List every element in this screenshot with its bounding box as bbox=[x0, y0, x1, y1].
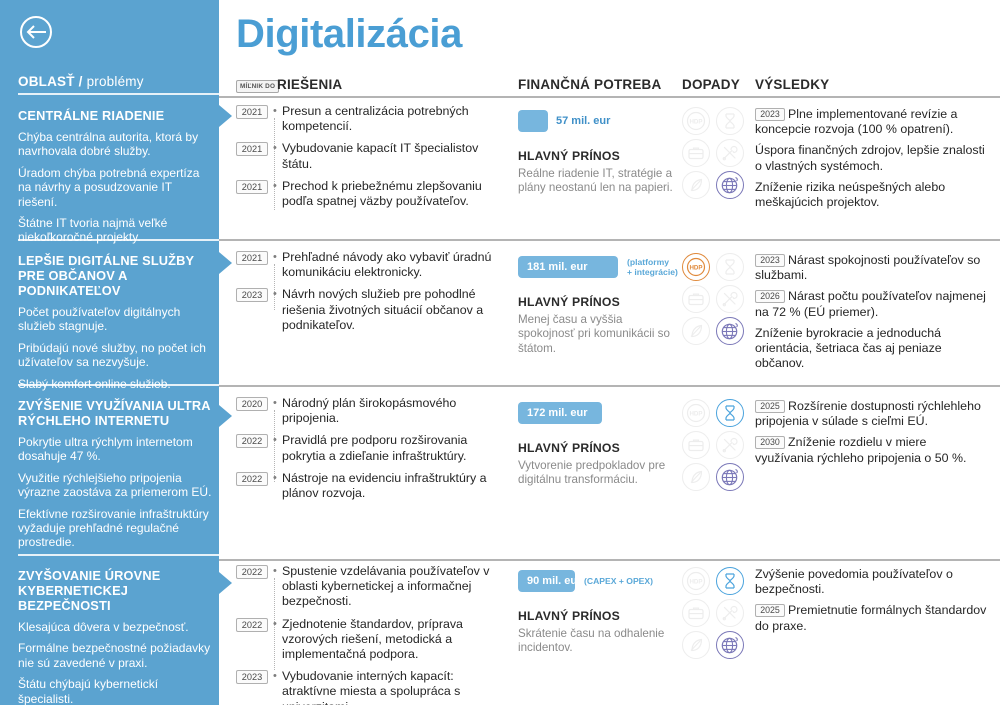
bullet-icon: • bbox=[273, 564, 282, 610]
result-text: Nárast počtu používateľov najmenej na 72… bbox=[755, 289, 986, 318]
solution-text: Prechod k priebežnému zlepšovaniu podľa … bbox=[282, 179, 504, 209]
globe-icon bbox=[716, 631, 744, 659]
solution-item[interactable]: 2022•Spustenie vzdelávania používateľov … bbox=[236, 564, 504, 610]
area-problem: Formálne bezpečnostné požiadavky nie sú … bbox=[18, 641, 214, 670]
funding-note: (CAPEX + OPEX) bbox=[584, 576, 653, 586]
results-block: Zvýšenie povedomia používateľov o bezpeč… bbox=[755, 567, 987, 640]
result-text: Rozšírenie dostupnosti rýchlehleho pripo… bbox=[755, 399, 981, 428]
solution-item[interactable]: 2021•Vybudovanie kapacít IT špecialistov… bbox=[236, 141, 504, 171]
result-item: 2030Zníženie rozdielu v miere využívania… bbox=[755, 435, 987, 465]
benefit-label: HLAVNÝ PRÍNOS bbox=[518, 609, 678, 623]
area-problem: Pokrytie ultra rýchlym internetom dosahu… bbox=[18, 435, 214, 464]
result-item: 2025Premietnutie formálnych štandardov d… bbox=[755, 603, 987, 633]
result-item: 2026Nárast počtu používateľov najmenej n… bbox=[755, 289, 987, 319]
solution-text: Prehľadné návody ako vybaviť úradnú komu… bbox=[282, 250, 504, 280]
milestone-year-chip: 2022 bbox=[236, 434, 268, 448]
result-text: Zvýšenie povedomia používateľov o bezpeč… bbox=[755, 567, 953, 596]
result-item: Zvýšenie povedomia používateľov o bezpeč… bbox=[755, 567, 987, 597]
row-divider bbox=[219, 559, 1000, 561]
result-year-chip: 2026 bbox=[755, 290, 785, 303]
result-text: Nárast spokojnosti používateľov so služb… bbox=[755, 253, 980, 282]
solution-item[interactable]: 2021•Prechod k priebežnému zlepšovaniu p… bbox=[236, 179, 504, 209]
solution-text: Národný plán širokopásmového pripojenia. bbox=[282, 396, 504, 426]
leaf-icon bbox=[682, 171, 710, 199]
svg-text:HDP: HDP bbox=[689, 410, 702, 417]
briefcase-icon bbox=[682, 139, 710, 167]
tools-icon bbox=[716, 599, 744, 627]
solution-text: Spustenie vzdelávania používateľov v obl… bbox=[282, 564, 504, 610]
solution-text: Vybudovanie interných kapacít: atraktívn… bbox=[282, 669, 504, 705]
finance-block: 181 mil. eur(platformy+ integrácie)HLAVN… bbox=[518, 256, 678, 356]
benefit-text: Vytvorenie predpokladov pre digitálnu tr… bbox=[518, 459, 678, 488]
result-text: Premietnutie formálnych štandardov do pr… bbox=[755, 603, 986, 632]
solution-text: Návrh nových služieb pre pohodlné riešen… bbox=[282, 287, 504, 333]
bullet-icon: • bbox=[273, 250, 282, 280]
milestone-year-chip: 2021 bbox=[236, 142, 268, 156]
col-header-impacts: DOPADY bbox=[682, 77, 740, 92]
area-problem: Štátu chýbajú kybernetickí špecialisti. bbox=[18, 677, 214, 705]
result-text: Plne implementované revízie a koncepcie … bbox=[755, 107, 957, 136]
money-row: 90 mil. eur(CAPEX + OPEX) bbox=[518, 570, 678, 592]
funding-amount-label: 57 mil. eur bbox=[556, 115, 610, 127]
finance-block: 57 mil. eurHLAVNÝ PRÍNOSReálne riadenie … bbox=[518, 110, 678, 196]
result-year-chip: 2025 bbox=[755, 604, 785, 617]
area-problem: Využitie rýchlejšieho pripojenia výrazne… bbox=[18, 471, 214, 500]
bullet-icon: • bbox=[273, 396, 282, 426]
impacts-grid: HDP bbox=[682, 253, 746, 347]
area-column-header-strong: OBLASŤ bbox=[18, 74, 75, 89]
impacts-grid: HDP bbox=[682, 567, 746, 661]
bullet-icon: • bbox=[273, 287, 282, 333]
hourglass-icon bbox=[716, 253, 744, 281]
row-pointer-arrow bbox=[219, 252, 232, 274]
result-item: 2025Rozšírenie dostupnosti rýchlehleho p… bbox=[755, 399, 987, 429]
milestone-year-chip: 2022 bbox=[236, 565, 268, 579]
hourglass-icon bbox=[716, 567, 744, 595]
row-pointer-arrow bbox=[219, 405, 232, 427]
hourglass-icon bbox=[716, 107, 744, 135]
results-block: 2025Rozšírenie dostupnosti rýchlehleho p… bbox=[755, 399, 987, 472]
area-problem: Počet používateľov digitálnych služieb s… bbox=[18, 305, 214, 334]
milestone-year-chip: 2021 bbox=[236, 105, 268, 119]
result-year-chip: 2023 bbox=[755, 254, 785, 267]
funding-bar: 90 mil. eur bbox=[518, 570, 575, 592]
solution-text: Pravidlá pre podporu rozširovania pokryt… bbox=[282, 433, 504, 463]
solution-item[interactable]: 2020•Národný plán širokopásmového pripoj… bbox=[236, 396, 504, 426]
row-divider-left bbox=[18, 239, 219, 241]
milestone-year-chip: 2021 bbox=[236, 180, 268, 194]
benefit-label: HLAVNÝ PRÍNOS bbox=[518, 441, 678, 455]
tools-icon bbox=[716, 139, 744, 167]
area-title: ZVÝŠENIE VYUŽÍVANIA ULTRA RÝCHLEHO INTER… bbox=[18, 398, 214, 428]
svg-text:HDP: HDP bbox=[689, 118, 702, 125]
funding-bar: 181 mil. eur bbox=[518, 256, 618, 278]
solutions-list: 2021•Prehľadné návody ako vybaviť úradnú… bbox=[236, 250, 504, 340]
infographic-page: OBLASŤ / problémy Digitalizácia MÍĽNIK D… bbox=[0, 0, 1000, 705]
result-year-chip: 2025 bbox=[755, 400, 785, 413]
solution-item[interactable]: 2023•Návrh nových služieb pre pohodlné r… bbox=[236, 287, 504, 333]
milestone-year-chip: 2021 bbox=[236, 251, 268, 265]
milestone-year-chip: 2023 bbox=[236, 288, 268, 302]
result-item: Zníženie rizika neúspešných alebo meškaj… bbox=[755, 180, 987, 210]
solution-text: Zjednotenie štandardov, príprava vzorový… bbox=[282, 617, 504, 663]
hdp-icon: HDP bbox=[682, 567, 710, 595]
money-row: 181 mil. eur(platformy+ integrácie) bbox=[518, 256, 678, 278]
globe-icon bbox=[716, 171, 744, 199]
impacts-grid: HDP bbox=[682, 399, 746, 493]
result-year-chip: 2030 bbox=[755, 436, 785, 449]
area-column-header: OBLASŤ / problémy bbox=[18, 74, 218, 89]
solution-item[interactable]: 2022•Pravidlá pre podporu rozširovania p… bbox=[236, 433, 504, 463]
globe-icon bbox=[716, 463, 744, 491]
funding-bar bbox=[518, 110, 548, 132]
results-block: 2023Plne implementované revízie a koncep… bbox=[755, 107, 987, 216]
area-block: CENTRÁLNE RIADENIEChýba centrálna autori… bbox=[18, 108, 214, 252]
row-divider bbox=[219, 96, 1000, 98]
solution-item[interactable]: 2022•Zjednotenie štandardov, príprava vz… bbox=[236, 617, 504, 663]
leaf-icon bbox=[682, 463, 710, 491]
funding-note: (platformy+ integrácie) bbox=[627, 257, 678, 277]
briefcase-icon bbox=[682, 285, 710, 313]
finance-block: 172 mil. eurHLAVNÝ PRÍNOSVytvorenie pred… bbox=[518, 402, 678, 488]
briefcase-icon bbox=[682, 431, 710, 459]
hdp-icon: HDP bbox=[682, 107, 710, 135]
benefit-label: HLAVNÝ PRÍNOS bbox=[518, 295, 678, 309]
area-column-header-light: problémy bbox=[87, 74, 144, 89]
col-header-finance: FINANČNÁ POTREBA bbox=[518, 77, 661, 92]
leaf-icon bbox=[682, 631, 710, 659]
milestone-year-chip: 2020 bbox=[236, 397, 268, 411]
area-block: ZVYŠOVANIE ÚROVNE KYBERNETICKEJ BEZPEČNO… bbox=[18, 568, 214, 705]
area-title: ZVYŠOVANIE ÚROVNE KYBERNETICKEJ BEZPEČNO… bbox=[18, 568, 214, 613]
bullet-icon: • bbox=[273, 617, 282, 663]
result-item: 2023Plne implementované revízie a koncep… bbox=[755, 107, 987, 137]
col-header-solutions: RIEŠENIA bbox=[277, 77, 342, 92]
result-item: Úspora finančných zdrojov, lepšie znalos… bbox=[755, 143, 987, 173]
solution-text: Presun a centralizácia potrebných kompet… bbox=[282, 104, 504, 134]
svg-text:HDP: HDP bbox=[689, 578, 702, 585]
area-block: LEPŠIE DIGITÁLNE SLUŽBY PRE OBČANOV A PO… bbox=[18, 253, 214, 398]
result-text: Zníženie rozdielu v miere využívania rýc… bbox=[755, 435, 966, 464]
money-row: 172 mil. eur bbox=[518, 402, 678, 424]
area-problem: Efektívne rozširovanie infraštruktúry vy… bbox=[18, 507, 214, 550]
tools-icon bbox=[716, 285, 744, 313]
globe-icon bbox=[716, 317, 744, 345]
benefit-text: Menej času a vyššia spokojnosť pri komun… bbox=[518, 313, 678, 356]
results-block: 2023Nárast spokojnosti používateľov so s… bbox=[755, 253, 987, 377]
area-problem: Chýba centrálna autorita, ktorá by navrh… bbox=[18, 130, 214, 159]
area-problem: Pribúdajú nové služby, no počet ich užív… bbox=[18, 341, 214, 370]
benefit-text: Skrátenie času na odhalenie incidentov. bbox=[518, 627, 678, 656]
solution-item[interactable]: 2022•Nástroje na evidenciu infraštruktúr… bbox=[236, 471, 504, 501]
result-item: 2023Nárast spokojnosti používateľov so s… bbox=[755, 253, 987, 283]
row-pointer-arrow bbox=[219, 105, 232, 127]
milestone-badge-header: MÍĽNIK DO bbox=[236, 80, 279, 93]
area-problem: Úradom chýba potrebná expertíza na návrh… bbox=[18, 166, 214, 209]
hdp-icon: HDP bbox=[682, 253, 710, 281]
result-text: Úspora finančných zdrojov, lepšie znalos… bbox=[755, 143, 985, 172]
benefit-text: Reálne riadenie IT, stratégie a plány ne… bbox=[518, 167, 678, 196]
row-divider bbox=[219, 239, 1000, 241]
area-title: CENTRÁLNE RIADENIE bbox=[18, 108, 214, 123]
row-pointer-arrow bbox=[219, 572, 232, 594]
col-header-results: VÝSLEDKY bbox=[755, 77, 829, 92]
result-text: Zníženie byrokracie a jednoduchá orientá… bbox=[755, 326, 942, 370]
row-divider-left bbox=[18, 554, 219, 556]
bullet-icon: • bbox=[273, 471, 282, 501]
svg-text:HDP: HDP bbox=[689, 264, 702, 271]
area-header-divider bbox=[18, 93, 219, 95]
bullet-icon: • bbox=[273, 179, 282, 209]
result-item: Zníženie byrokracie a jednoduchá orientá… bbox=[755, 326, 987, 372]
solutions-list: 2021•Presun a centralizácia potrebných k… bbox=[236, 104, 504, 216]
milestone-year-chip: 2022 bbox=[236, 618, 268, 632]
finance-block: 90 mil. eur(CAPEX + OPEX)HLAVNÝ PRÍNOSSk… bbox=[518, 570, 678, 656]
solution-item[interactable]: 2023•Vybudovanie interných kapacít: atra… bbox=[236, 669, 504, 705]
benefit-label: HLAVNÝ PRÍNOS bbox=[518, 149, 678, 163]
area-title: LEPŠIE DIGITÁLNE SLUŽBY PRE OBČANOV A PO… bbox=[18, 253, 214, 298]
solutions-list: 2020•Národný plán širokopásmového pripoj… bbox=[236, 396, 504, 508]
bullet-icon: • bbox=[273, 669, 282, 705]
result-year-chip: 2023 bbox=[755, 108, 785, 121]
row-divider-left bbox=[18, 384, 219, 386]
solution-text: Vybudovanie kapacít IT špecialistov štát… bbox=[282, 141, 504, 171]
bullet-icon: • bbox=[273, 104, 282, 134]
solution-item[interactable]: 2021•Presun a centralizácia potrebných k… bbox=[236, 104, 504, 134]
leaf-icon bbox=[682, 317, 710, 345]
bullet-icon: • bbox=[273, 433, 282, 463]
circle-left-arrow-icon[interactable] bbox=[16, 12, 56, 52]
bullet-icon: • bbox=[273, 141, 282, 171]
hdp-icon: HDP bbox=[682, 399, 710, 427]
solution-text: Nástroje na evidenciu infraštruktúry a p… bbox=[282, 471, 504, 501]
milestone-year-chip: 2023 bbox=[236, 670, 268, 684]
funding-bar: 172 mil. eur bbox=[518, 402, 602, 424]
tools-icon bbox=[716, 431, 744, 459]
briefcase-icon bbox=[682, 599, 710, 627]
area-block: ZVÝŠENIE VYUŽÍVANIA ULTRA RÝCHLEHO INTER… bbox=[18, 398, 214, 557]
page-title: Digitalizácia bbox=[236, 12, 462, 57]
result-text: Zníženie rizika neúspešných alebo meškaj… bbox=[755, 180, 945, 209]
solution-item[interactable]: 2021•Prehľadné návody ako vybaviť úradnú… bbox=[236, 250, 504, 280]
impacts-grid: HDP bbox=[682, 107, 746, 201]
area-problem: Klesajúca dôvera v bezpečnosť. bbox=[18, 620, 214, 634]
hourglass-icon bbox=[716, 399, 744, 427]
row-divider bbox=[219, 385, 1000, 387]
area-column-header-sep: / bbox=[79, 74, 83, 89]
solutions-list: 2022•Spustenie vzdelávania používateľov … bbox=[236, 564, 504, 705]
milestone-year-chip: 2022 bbox=[236, 472, 268, 486]
money-row: 57 mil. eur bbox=[518, 110, 678, 132]
